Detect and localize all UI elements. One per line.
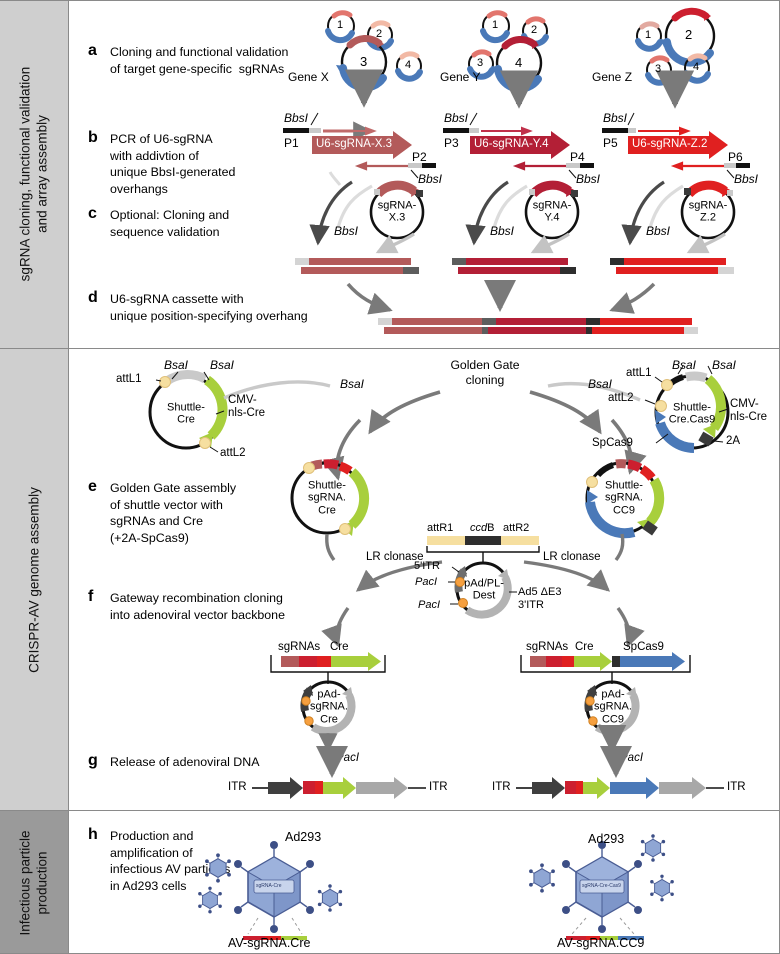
clone-number-y-1: 1 bbox=[492, 19, 498, 31]
section-band-label-3: Infectious particleproduction bbox=[17, 830, 52, 935]
gene-label-y: Gene Y bbox=[440, 70, 480, 84]
enzyme-label-bbsi-b4: BbsI bbox=[576, 172, 600, 186]
plasmid-cluster-gene-z bbox=[637, 11, 714, 104]
panel-letter-b: b bbox=[88, 129, 98, 147]
assembled-array bbox=[378, 318, 698, 336]
reaction-label-lr-clonase-left: LR clonase bbox=[366, 551, 424, 563]
primer-label-p3: P3 bbox=[444, 136, 459, 150]
enzyme-label-bbsi-c3: BbsI bbox=[646, 224, 670, 238]
panel-caption-h: Production andamplification ofinfectious… bbox=[110, 828, 280, 894]
clone-number-y-2: 2 bbox=[531, 24, 537, 36]
section-divider-2 bbox=[0, 810, 780, 811]
cassette-y bbox=[452, 258, 582, 276]
gene-label-x: Gene X bbox=[288, 70, 329, 84]
reaction-label-golden-gate: Golden Gatecloning bbox=[450, 358, 519, 387]
feature-label-ccdb: ccdB bbox=[470, 522, 494, 534]
dest-cassette-bar bbox=[427, 536, 539, 545]
feature-label-attl1-left: attL1 bbox=[116, 373, 142, 385]
feature-label-ad5-de3-3itr: Ad5 ΔE33'ITR bbox=[518, 586, 561, 612]
enzyme-label-bbsi-c1: BbsI bbox=[334, 224, 358, 238]
feature-label-attl2-left: attL2 bbox=[220, 447, 246, 459]
primer-label-p6: P6 bbox=[728, 150, 743, 164]
primer-label-p5: P5 bbox=[603, 136, 618, 150]
map-label-cre-right: Cre bbox=[575, 641, 594, 653]
panel-letter-h: h bbox=[88, 826, 98, 844]
plasmid-label-pad-sgrna-cc9: pAd-sgRNA.CC9 bbox=[594, 689, 632, 726]
cassette-z bbox=[610, 258, 740, 276]
map-label-sgrnas-left: sgRNAs bbox=[278, 641, 320, 653]
feature-label-attl2-right: attL2 bbox=[608, 392, 634, 404]
itr-label-left-2: ITR bbox=[492, 781, 511, 793]
gene-label-z: Gene Z bbox=[592, 70, 632, 84]
feature-label-cmv-cre-right: CMV-nls-Cre bbox=[730, 398, 767, 424]
primer-label-p2: P2 bbox=[412, 150, 427, 164]
figure-top-border bbox=[0, 0, 780, 1]
enzyme-label-bbsi-b5: BbsI bbox=[603, 111, 627, 125]
clone-number-x-2: 2 bbox=[376, 28, 382, 40]
clone-number-y-4: 4 bbox=[515, 55, 522, 70]
amplicon-label-z: U6-sgRNA-Z.2 bbox=[632, 138, 707, 150]
amplicon-label-x: U6-sgRNA-X.3 bbox=[316, 138, 392, 150]
enzyme-label-bbsi-c2: BbsI bbox=[490, 224, 514, 238]
feature-label-attr1: attR1 bbox=[427, 522, 453, 534]
feature-label-cmv-cre-left: CMV-nls-Cre bbox=[228, 394, 265, 420]
panel-caption-g: Release of adenoviral DNA bbox=[110, 754, 325, 771]
panel-letter-a: a bbox=[88, 42, 97, 60]
panel-letter-f: f bbox=[88, 588, 93, 606]
clone-number-x-4: 4 bbox=[405, 59, 411, 71]
itr-label-right-2: ITR bbox=[727, 781, 746, 793]
amplicon-label-y: U6-sgRNA-Y.4 bbox=[474, 138, 549, 150]
section-band-genome-assembly: CRISPR-AV genome assembly bbox=[0, 349, 69, 810]
plasmid-label-pad-pl-dest: pAd/PL-Dest bbox=[464, 578, 504, 603]
enzyme-label-bsai-e4: BsaI bbox=[712, 358, 736, 372]
av-name-label-left: AV-sgRNA.Cre bbox=[228, 936, 310, 950]
plasmid-label-shuttle-sgrna-cre: Shuttle-sgRNA.Cre bbox=[308, 480, 346, 517]
band-divider-line bbox=[68, 0, 69, 954]
enzyme-label-bsai-e6: BsaI bbox=[588, 377, 612, 391]
plasmid-label-shuttle-cre-cas9: Shuttle-Cre.Cas9 bbox=[669, 402, 715, 427]
panel-caption-b: PCR of U6-sgRNAwith addivtion ofunique B… bbox=[110, 131, 300, 197]
feature-label-attl1-right: attL1 bbox=[626, 367, 652, 379]
panel-caption-c: Optional: Cloning andsequence validation bbox=[110, 207, 310, 240]
itr-label-right-1: ITR bbox=[429, 781, 448, 793]
clone-number-y-3: 3 bbox=[477, 57, 483, 69]
panel-letter-g: g bbox=[88, 752, 98, 770]
section-band-label-2: CRISPR-AV genome assembly bbox=[25, 487, 42, 673]
cassette-x bbox=[295, 258, 425, 276]
plasmid-label-sgrna-y4: sgRNA-Y.4 bbox=[533, 200, 572, 225]
clone-number-z-4: 4 bbox=[693, 61, 699, 73]
clone-number-z-1: 1 bbox=[645, 29, 651, 41]
map-label-sgrnas-right: sgRNAs bbox=[526, 641, 568, 653]
enzyme-label-bbsi-b6: BbsI bbox=[734, 172, 758, 186]
feature-label-attr2: attR2 bbox=[503, 522, 529, 534]
map-label-spcas9-right: SpCas9 bbox=[623, 641, 664, 653]
cell-line-label-left: Ad293 bbox=[285, 830, 321, 844]
section-divider-1 bbox=[0, 348, 780, 349]
enzyme-label-paci-g-left: PacI bbox=[336, 752, 359, 764]
primer-label-p4: P4 bbox=[570, 150, 585, 164]
feature-label-paci-1: PacI bbox=[415, 576, 437, 588]
feature-label-2a: 2A bbox=[726, 435, 740, 447]
feature-label-spcas9-e: SpCas9 bbox=[592, 437, 633, 449]
plasmid-label-shuttle-cre: Shuttle-Cre bbox=[167, 402, 205, 427]
clone-number-z-2: 2 bbox=[685, 27, 692, 42]
map-label-cre-left: Cre bbox=[330, 641, 349, 653]
virus-genome-tag-cre: sgRNA-Cre bbox=[256, 883, 282, 889]
section-band-particle-production: Infectious particleproduction bbox=[0, 811, 69, 954]
enzyme-label-bsai-e3: BsaI bbox=[672, 358, 696, 372]
feature-label-paci-2: PacI bbox=[418, 599, 440, 611]
panel-caption-e: Golden Gate assemblyof shuttle vector wi… bbox=[110, 480, 285, 546]
enzyme-label-bbsi-b1: BbsI bbox=[284, 111, 308, 125]
panel-letter-c: c bbox=[88, 205, 97, 223]
panel-letter-e: e bbox=[88, 478, 97, 496]
section-band-sgrna-cloning: sgRNA cloning, functional validationand … bbox=[0, 0, 69, 348]
panel-caption-f: Gateway recombination cloninginto adenov… bbox=[110, 590, 325, 623]
cell-line-label-right: Ad293 bbox=[588, 832, 624, 846]
enzyme-label-bbsi-b3: BbsI bbox=[444, 111, 468, 125]
clone-number-x-1: 1 bbox=[337, 19, 343, 31]
enzyme-label-bbsi-b2: BbsI bbox=[418, 172, 442, 186]
clone-number-z-3: 3 bbox=[655, 63, 661, 75]
plasmid-label-sgrna-z2: sgRNA-Z.2 bbox=[689, 200, 728, 225]
panel-caption-d: U6-sgRNA cassette withunique position-sp… bbox=[110, 291, 350, 324]
primer-label-p1: P1 bbox=[284, 136, 299, 150]
plasmid-label-pad-sgrna-cre: pAd-sgRNA.Cre bbox=[310, 689, 348, 726]
av-name-label-right: AV-sgRNA.CC9 bbox=[557, 936, 644, 950]
section-band-label-1: sgRNA cloning, functional validationand … bbox=[17, 67, 52, 282]
enzyme-label-bsai-e5: BsaI bbox=[340, 377, 364, 391]
plasmid-label-sgrna-x3: sgRNA-X.3 bbox=[378, 200, 417, 225]
virus-genome-tag-cc9: sgRNA-Cre-Cas9 bbox=[582, 883, 621, 889]
clone-number-x-3: 3 bbox=[360, 54, 367, 69]
enzyme-label-bsai-e1: BsaI bbox=[164, 358, 188, 372]
plasmid-label-shuttle-sgrna-cc9: Shuttle-sgRNA.CC9 bbox=[605, 480, 643, 517]
reaction-label-lr-clonase-right: LR clonase bbox=[543, 551, 601, 563]
enzyme-label-bsai-e2: BsaI bbox=[210, 358, 234, 372]
figure-root: sgRNA cloning, functional validationand … bbox=[0, 0, 780, 954]
panel-letter-d: d bbox=[88, 289, 98, 307]
enzyme-label-paci-g-right: PacI bbox=[620, 752, 643, 764]
itr-label-left-1: ITR bbox=[228, 781, 247, 793]
